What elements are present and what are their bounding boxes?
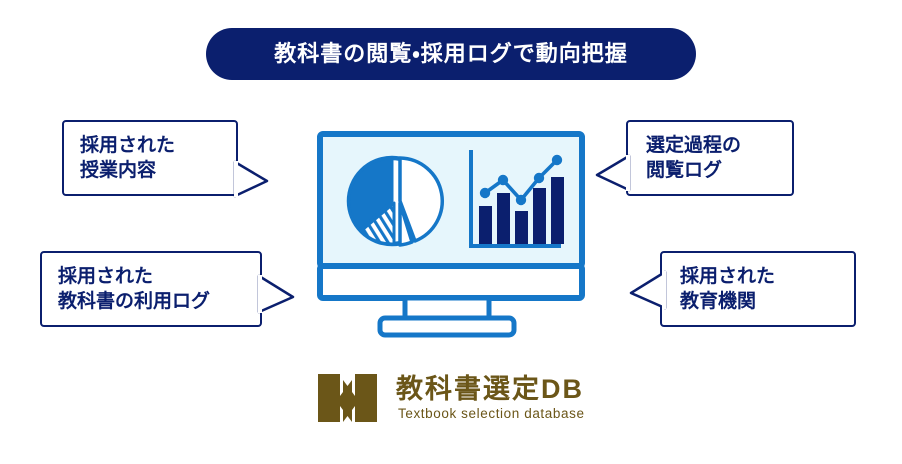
callout-line: 教科書の利用ログ [58,289,210,314]
callout-adopted-textbook-usage-log: 採用された 教科書の利用ログ [40,251,262,327]
logo-name-en: Textbook selection database [398,406,585,421]
trend-point [534,173,544,183]
callout-adopted-educational-institution: 採用された 教育機関 [660,251,856,327]
callout-tail-left-icon [594,152,630,194]
brand-logo: 教科書選定DB Textbook selection database [316,368,592,428]
bar [497,193,510,244]
callout-line: 授業内容 [80,158,156,183]
bar [551,177,564,244]
bar [515,211,528,244]
callout-line: 採用された [58,264,153,289]
logo-name-jp: 教科書選定DB [395,374,584,404]
trend-point [480,188,490,198]
trend-point [552,155,562,165]
trend-point [498,175,508,185]
callout-tail-left-icon [628,268,666,312]
pie-chart [349,158,442,245]
callout-line: 選定過程の [646,133,741,158]
monitor-stand [380,298,514,335]
callout-line: 採用された [80,133,175,158]
infographic-canvas: 教科書の閲覧・採用ログで動向把握 採用された 授業内容 採用された 教科書の利用… [0,0,902,464]
callout-tail-right-icon [234,158,270,200]
title-banner-text: 教科書の閲覧・採用ログで動向把握 [274,43,627,65]
callout-selection-process-view-log: 選定過程の 閲覧ログ [626,120,794,196]
callout-adopted-class-content: 採用された 授業内容 [62,120,238,196]
bar [533,188,546,244]
callout-line: 教育機関 [680,289,756,314]
trend-point [516,195,526,205]
callout-line: 閲覧ログ [646,158,722,183]
callout-tail-right-icon [258,272,296,316]
callout-line: 採用された [680,264,775,289]
title-banner: 教科書の閲覧・採用ログで動向把握 [206,28,696,80]
bar [479,206,492,244]
logo-mark-icon [318,374,377,422]
desktop-monitor-illustration [316,130,586,338]
